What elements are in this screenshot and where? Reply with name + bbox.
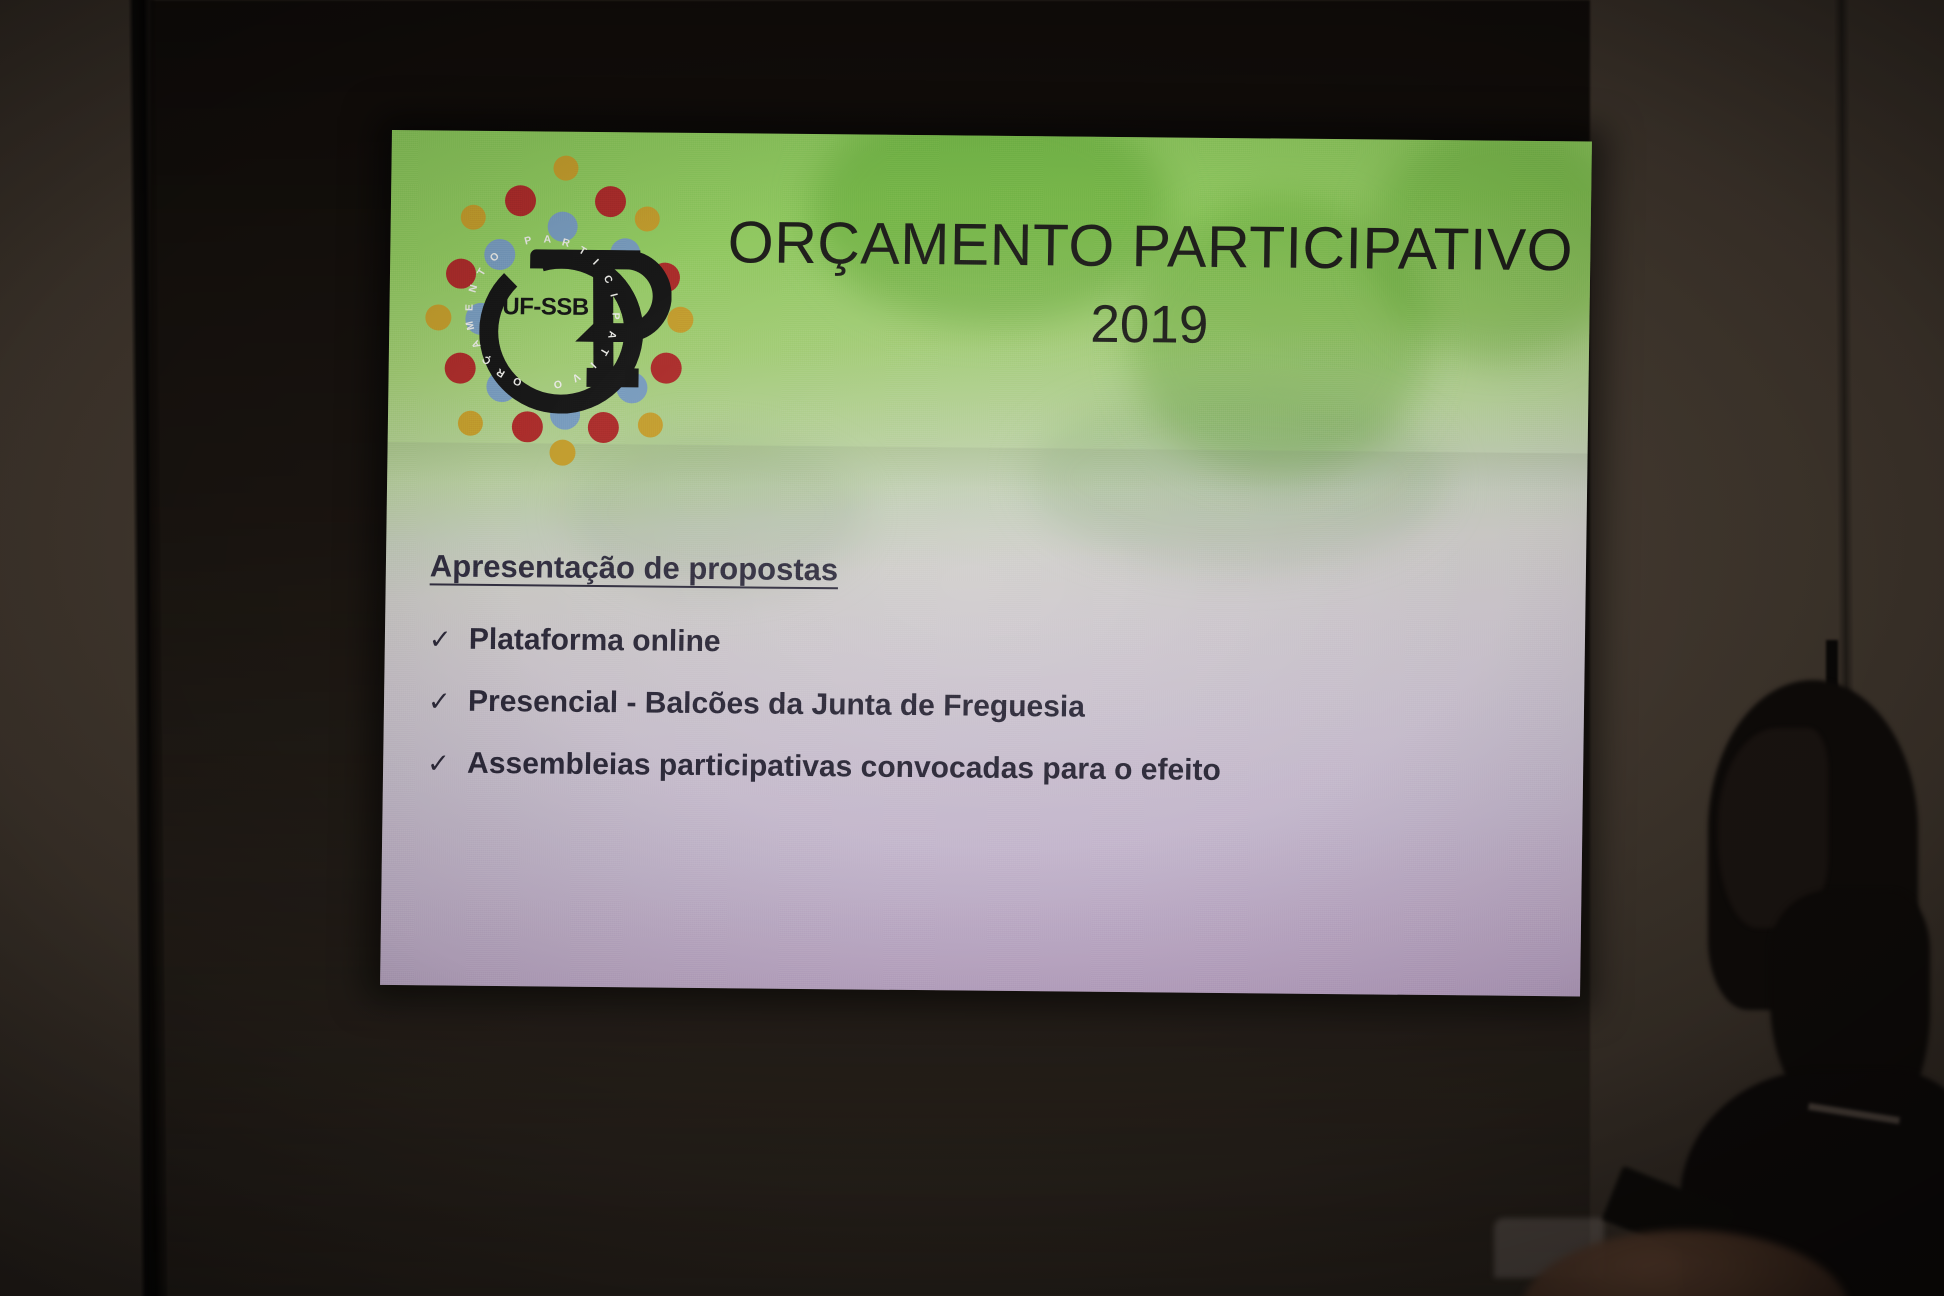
op-logo: ORÇAMENTO PARTICIPATIVO UF-SSB <box>420 152 724 435</box>
bullet-item: ✓Presencial - Balcões da Junta de Fregue… <box>428 684 1528 729</box>
logo-dot-gold <box>638 412 663 437</box>
logo-ring-char: P <box>609 312 621 319</box>
op-monogram-icon: ORÇAMENTO PARTICIPATIVO UF-SSB <box>466 205 679 392</box>
logo-dot-gold <box>553 156 578 181</box>
bullet-item: ✓Plataforma online <box>429 622 1529 667</box>
logo-ring-char: R <box>561 236 572 250</box>
slide-title-block: ORÇAMENTO PARTICIPATIVO 2019 <box>719 211 1581 357</box>
bullet-text: Assembleias participativas convocadas pa… <box>467 747 1221 788</box>
logo-ring-char: T <box>577 244 589 258</box>
logo-ring-char: A <box>469 338 483 350</box>
logo-ring-char: E <box>463 304 475 311</box>
check-icon: ✓ <box>429 624 469 655</box>
logo-ring-char: T <box>597 346 611 358</box>
projected-slide-photo: ORÇAMENTO PARTICIPATIVO UF-SSB ORÇAMENTO… <box>0 0 1944 1296</box>
slide-canvas: ORÇAMENTO PARTICIPATIVO UF-SSB ORÇAMENTO… <box>380 130 1592 996</box>
logo-ring-char: R <box>494 366 507 380</box>
slide-title-year: 2019 <box>719 293 1580 357</box>
logo-ring-char: M <box>464 320 478 331</box>
logo-ring-char: P <box>523 234 533 247</box>
slide-title: ORÇAMENTO PARTICIPATIVO <box>720 211 1581 283</box>
bullet-list: ✓Plataforma online✓Presencial - Balcões … <box>427 622 1529 791</box>
logo-ring-char: O <box>552 377 563 391</box>
logo-dot-gold <box>458 411 483 436</box>
check-icon: ✓ <box>428 686 468 717</box>
logo-dot-red <box>588 412 619 443</box>
logo-ring-char: I <box>590 257 601 268</box>
check-icon: ✓ <box>427 748 467 779</box>
logo-ring-char: Ç <box>480 353 494 367</box>
logo-dot-red <box>512 411 543 442</box>
logo-ring-char: C <box>601 273 615 286</box>
logo-ring-char: I <box>607 292 619 298</box>
logo-ring-char: T <box>475 266 489 278</box>
logo-ring-char: O <box>512 374 523 388</box>
logo-ring-char: A <box>605 330 619 340</box>
logo-ring-char: O <box>488 250 502 264</box>
logo-ring-char: A <box>543 233 551 245</box>
logo-ring-char: N <box>467 283 481 294</box>
logo-ring-char: I <box>588 360 599 371</box>
logo-ring-char <box>504 242 512 254</box>
presentation-slide[interactable]: ORÇAMENTO PARTICIPATIVO UF-SSB ORÇAMENTO… <box>380 130 1592 996</box>
slide-subheading: Apresentação de propostas <box>430 548 839 588</box>
logo-center-label: UF-SSB <box>489 293 601 322</box>
bullet-text: Presencial - Balcões da Junta de Fregues… <box>468 685 1085 725</box>
logo-ring-char: V <box>570 370 582 384</box>
logo-dot-gold <box>425 304 451 330</box>
bullet-item: ✓Assembleias participativas convocadas p… <box>427 746 1527 791</box>
slide-body: Apresentação de propostas ✓Plataforma on… <box>427 548 1531 819</box>
bullet-text: Plataforma online <box>469 623 721 659</box>
